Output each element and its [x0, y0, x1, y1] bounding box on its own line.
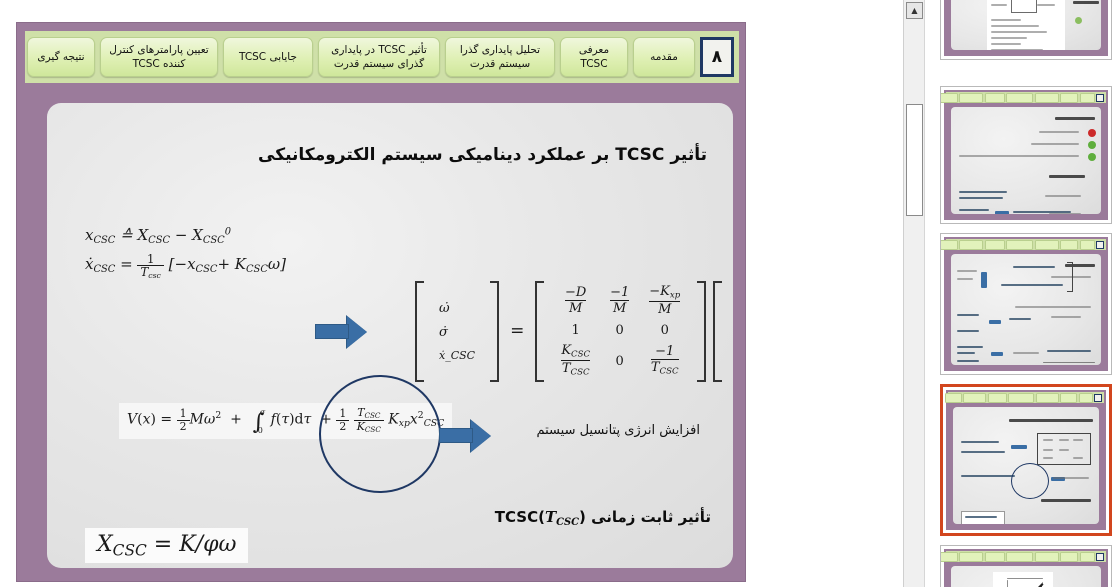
slide-canvas[interactable]: ٨ مقدمه معرفی TCSC تحلیل پایداری گذرا سی… — [16, 22, 746, 582]
thumb-arrow-icon — [995, 211, 1009, 214]
tab-tcsc-overview[interactable]: معرفی TCSC — [560, 37, 628, 77]
arrow-right-icon-2 — [439, 420, 495, 452]
rhs-state-vector: ω f(σ) x_CSC — [729, 297, 733, 366]
equals-sign: = — [506, 321, 528, 341]
thumb-block — [1011, 0, 1037, 13]
thumbnail-scrollbar[interactable]: ▲ — [904, 0, 925, 587]
thumbnail-list — [930, 0, 1119, 587]
note-time-constant-symbol: (TCSC) — [538, 508, 586, 526]
thumb-icon-check-1 — [1088, 141, 1096, 149]
thumb-slide-number — [1094, 394, 1102, 402]
thumbnail-slide-1[interactable] — [940, 0, 1112, 60]
note-potential-energy: افزایش انرژی پتانسیل سیستم — [536, 423, 700, 438]
bracket-left-rhs — [713, 281, 722, 382]
thumb-slide-number — [1096, 553, 1104, 561]
powerpoint-slide-view: ٨ مقدمه معرفی TCSC تحلیل پایداری گذرا سی… — [0, 0, 1119, 587]
equation-x-derivative: ẋCSC = 1Tcsc [−xCSC+ KCSCω] — [85, 250, 286, 281]
slide-number-badge: ٨ — [700, 37, 734, 77]
thumb-icon-check-2 — [1088, 153, 1096, 161]
state-space-matrix-equation: ω̇ σ̇ ẋ_CSC = −DM −1M −KxpM 100 KCSCTCSC… — [415, 281, 733, 382]
thumbnail-body — [951, 566, 1101, 587]
thumb-status-icon — [1075, 17, 1082, 24]
arrow-right-icon-1 — [315, 316, 371, 348]
thumb-arrow-down-icon — [981, 272, 987, 288]
thumb-icon-cross — [1088, 129, 1096, 137]
thumbnail-frame — [944, 0, 1108, 56]
highlight-ellipse — [319, 375, 441, 493]
tab-conclusion[interactable]: نتیجه گیری — [27, 37, 95, 77]
thumb-slide-number — [1096, 241, 1104, 249]
thumbnail-frame — [946, 390, 1106, 530]
scroll-up-arrow-icon[interactable]: ▲ — [906, 2, 923, 19]
thumb-arrow-icon-2 — [991, 352, 1003, 356]
thumbnail-slide-4-selected[interactable] — [940, 384, 1112, 536]
thumb-highlight-ellipse — [1011, 463, 1049, 499]
scrollbar-thumb[interactable] — [906, 104, 923, 216]
thumb-tabbar — [948, 392, 1104, 403]
thumb-slide-number — [1096, 94, 1104, 102]
slide-thumbnail-pane: ▲ — [903, 0, 1119, 587]
thumb-arrow-icon — [1011, 445, 1027, 449]
thumbnail-body — [953, 407, 1099, 524]
state-definition-equations: xCSC ≙ XCSC − XCSC0 ẋCSC = 1Tcsc [−xCSC… — [85, 221, 286, 281]
thumbnail-frame — [944, 90, 1108, 220]
thumbnail-body — [951, 254, 1101, 365]
slide-tab-navigation: ٨ مقدمه معرفی TCSC تحلیل پایداری گذرا سی… — [25, 31, 739, 83]
thumbnail-slide-3[interactable] — [940, 233, 1112, 375]
tab-tcsc-placement[interactable]: جایابی TCSC — [223, 37, 313, 77]
tab-introduction[interactable]: مقدمه — [633, 37, 695, 77]
thumb-tabbar — [946, 551, 1106, 562]
bracket-right-lhs — [490, 281, 499, 382]
thumbnail-body — [951, 107, 1101, 214]
equation-x-definition: xCSC ≙ XCSC − XCSC0 — [85, 221, 286, 250]
thumb-tabbar — [946, 92, 1106, 103]
thumbnail-frame — [944, 549, 1108, 587]
slide-content-area: تأثیر TCSC بر عملکرد دینامیکی سیستم الکت… — [47, 103, 733, 568]
bracket-left-lhs — [415, 281, 424, 382]
thumbnail-slide-2[interactable] — [940, 86, 1112, 224]
thumbnail-slide-5[interactable] — [940, 545, 1112, 587]
bracket-left-matrix — [535, 281, 544, 382]
tab-tcsc-effect[interactable]: تأثیر TCSC در پایداری گذرای سیستم قدرت — [318, 37, 440, 77]
thumbnail-frame — [944, 237, 1108, 371]
thumb-tabbar — [946, 239, 1106, 250]
thumb-arrow-icon — [989, 320, 1001, 324]
system-matrix: −DM −1M −KxpM 100 KCSCTCSC 0 −1TCSC — [551, 281, 690, 382]
tab-controller-params[interactable]: تعیین پارامترهای کنترل کننده TCSC — [100, 37, 218, 77]
thumb-vector-arrow-icon — [993, 572, 1053, 587]
tab-transient-analysis[interactable]: تحلیل پایداری گذرا سیستم قدرت — [445, 37, 555, 77]
note-time-constant: تأثیر ثابت زمانی TCSC(TCSC) — [495, 508, 711, 528]
thumbnail-body — [951, 0, 1101, 50]
lhs-state-vector: ω̇ σ̇ ẋ_CSC — [431, 297, 483, 366]
slide-title: تأثیر TCSC بر عملکرد دینامیکی سیستم الکت… — [258, 145, 707, 165]
note-time-constant-text: تأثیر ثابت زمانی TCSC — [495, 508, 711, 526]
thumb-brace — [1067, 262, 1073, 292]
bracket-right-matrix — [697, 281, 706, 382]
equation-xcsc-gain: XCSC = K/φω — [85, 528, 248, 563]
